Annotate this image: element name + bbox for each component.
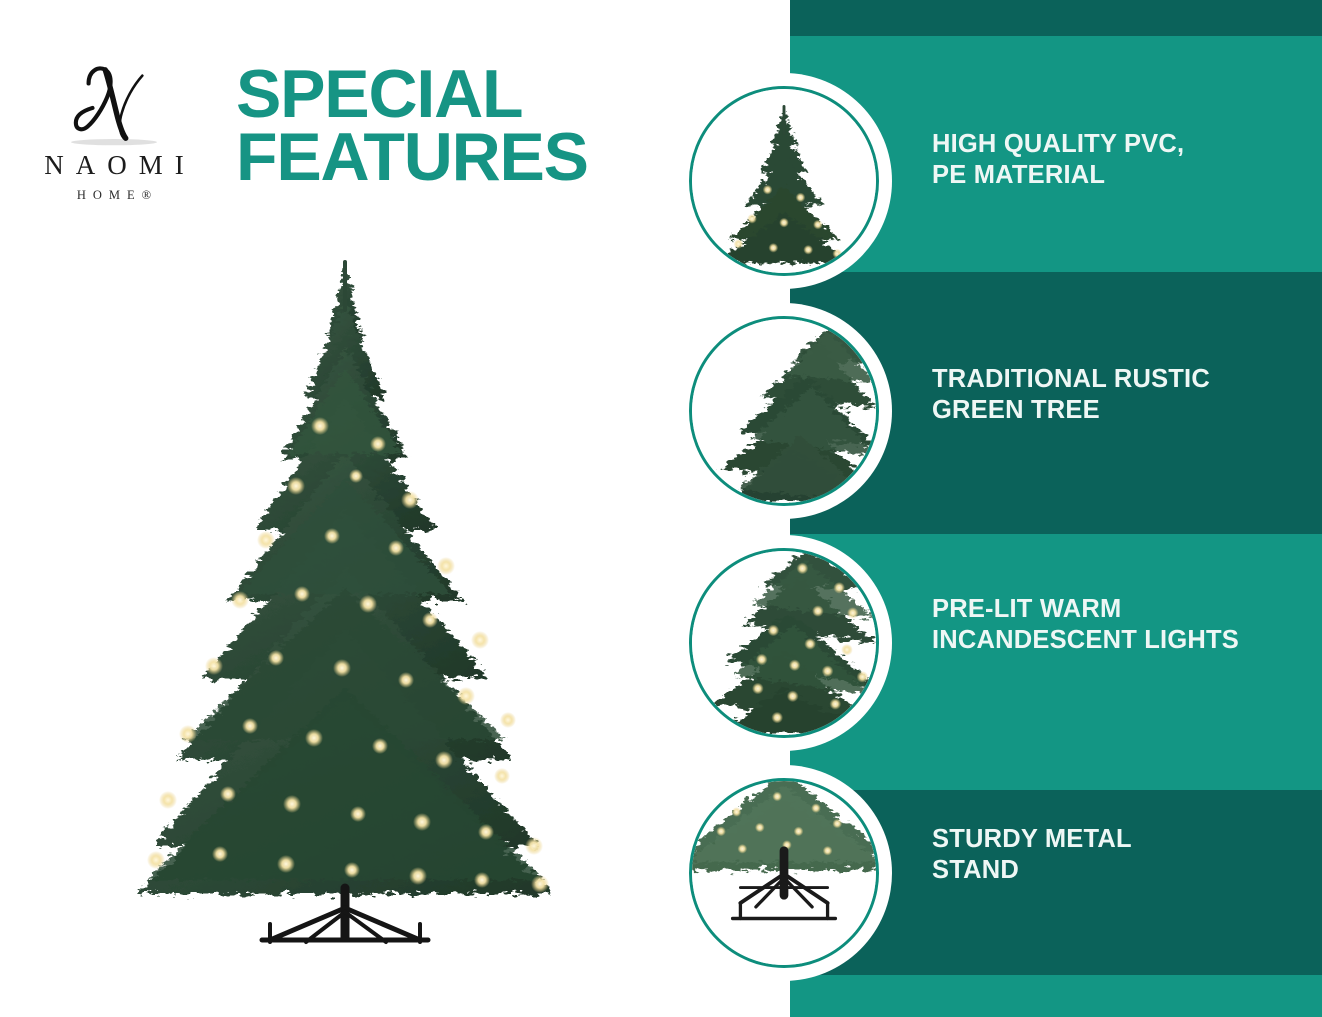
feature-1-line-1: HIGH QUALITY PVC, <box>932 129 1322 160</box>
band-bottom-light <box>790 975 1322 1017</box>
naomi-script-monogram-icon <box>54 60 174 150</box>
feature-2-line-2: GREEN TREE <box>932 395 1322 426</box>
feature-3-line-1: PRE-LIT WARM <box>932 594 1322 625</box>
feature-3-line-2: INCANDESCENT LIGHTS <box>932 625 1322 656</box>
feature-label-traditional-rustic-green-tree: TRADITIONAL RUSTIC GREEN TREE <box>932 364 1322 426</box>
thumbnail-ring-1 <box>689 86 879 276</box>
feature-4-line-1: STURDY METAL <box>932 824 1322 855</box>
feature-1-line-2: PE MATERIAL <box>932 160 1322 191</box>
feature-thumbnail-traditional-rustic-green-tree <box>676 303 892 519</box>
band-top-dark <box>790 0 1322 36</box>
feature-label-pre-lit-warm-incandescent-lights: PRE-LIT WARM INCANDESCENT LIGHTS <box>932 594 1322 656</box>
feature-2-line-1: TRADITIONAL RUSTIC <box>932 364 1322 395</box>
feature-label-sturdy-metal-stand: STURDY METAL STAND <box>932 824 1322 886</box>
feature-thumbnail-high-quality-pvc-pe-material <box>676 73 892 289</box>
thumbnail-ring-4 <box>689 778 879 968</box>
brand-logo: NAOMI HOME® <box>14 60 214 210</box>
feature-thumbnail-sturdy-metal-stand <box>676 765 892 981</box>
thumbnail-ring-3 <box>689 548 879 738</box>
page-title: SPECIAL FEATURES <box>236 63 706 189</box>
feature-label-high-quality-pvc-pe-material: HIGH QUALITY PVC, PE MATERIAL <box>932 129 1322 191</box>
brand-name: NAOMI <box>32 152 196 179</box>
feature-4-line-2: STAND <box>932 855 1322 886</box>
feature-thumbnail-pre-lit-warm-incandescent-lights <box>676 535 892 751</box>
product-feature-infographic: NAOMI HOME® SPECIAL FEATURES <box>0 0 1322 1017</box>
thumbnail-ring-2 <box>689 316 879 506</box>
brand-tagline: HOME® <box>70 188 158 203</box>
hero-tree-image <box>110 248 580 948</box>
page-title-line-1: SPECIAL <box>236 63 706 126</box>
page-title-line-2: FEATURES <box>236 126 706 189</box>
